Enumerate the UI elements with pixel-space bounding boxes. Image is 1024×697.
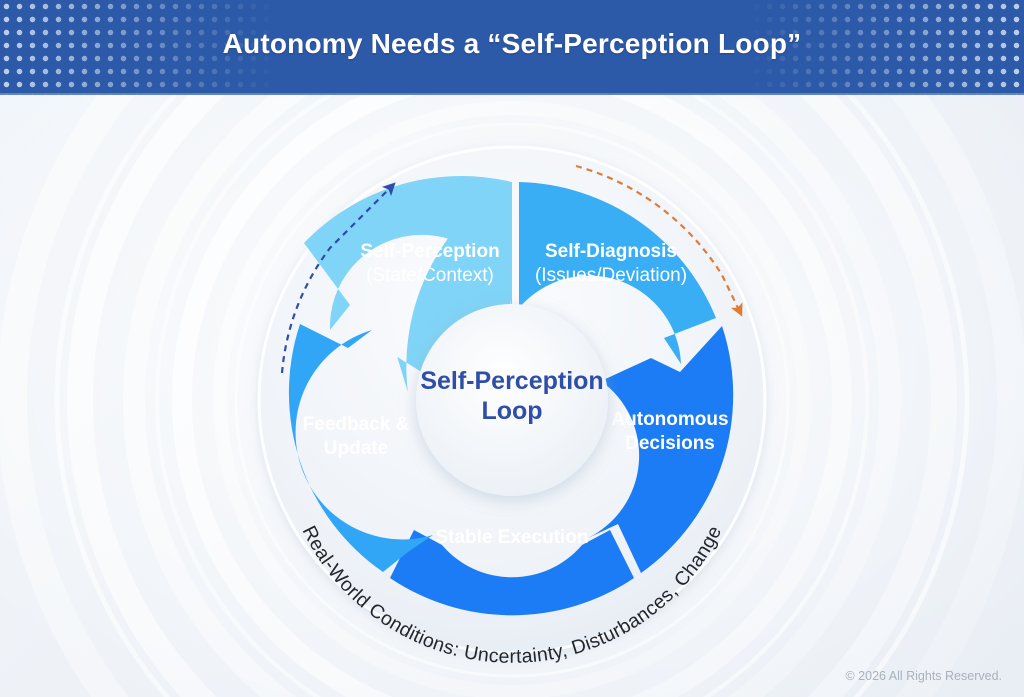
- segment-label-feedback-update: Feedback &: [303, 414, 410, 435]
- segment-sublabel-self-perception: (State/Context): [366, 265, 494, 286]
- page-title: Autonomy Needs a “Self-Perception Loop”: [0, 28, 1024, 60]
- header-underline: [0, 93, 1024, 95]
- footer-copyright: © 2026 All Rights Reserved.: [845, 669, 1002, 683]
- segment-label-self-diagnosis: Self-Diagnosis: [545, 241, 677, 262]
- self-perception-loop-diagram: Self-Perception (State/Context) Self-Dia…: [0, 0, 1024, 697]
- segment-sublabel-self-diagnosis: (Issues/Deviation): [535, 265, 687, 286]
- segment-sublabel-autonomous-decisions: Decisions: [625, 433, 715, 454]
- hub-label-line2: Loop: [481, 397, 542, 425]
- segment-sublabel-feedback-update: Update: [324, 438, 388, 459]
- segment-label-autonomous-decisions: Autonomous: [611, 409, 728, 430]
- hub-label-line1: Self-Perception: [420, 367, 603, 395]
- slide-canvas: Autonomy Needs a “Self-Perception Loop”: [0, 0, 1024, 697]
- slide-header: Autonomy Needs a “Self-Perception Loop”: [0, 0, 1024, 95]
- segment-label-stable-execution: Stable Execution: [435, 527, 588, 548]
- segment-label-self-perception: Self-Perception: [360, 241, 499, 262]
